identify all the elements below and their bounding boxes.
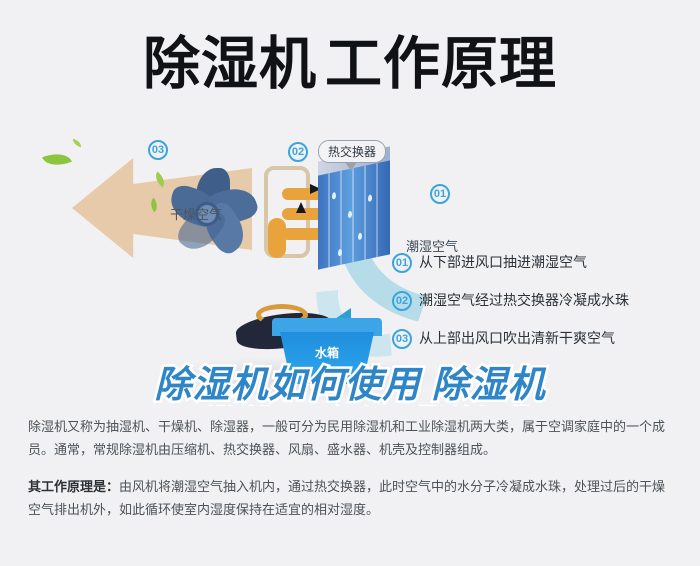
article-paragraph-2-rest: 由风机将潮湿空气抽入机内，通过热交换器，此时空气中的水分子冷凝成水珠，处理过后的… [28, 479, 665, 517]
title-part-1: 除湿机 [143, 32, 317, 96]
water-tank-label: 水箱 [272, 344, 382, 361]
label-heat-exchanger: 02 热交换器 [288, 140, 386, 163]
step-text: 从下部进风口抽进潮湿空气 [419, 252, 587, 272]
step-badge-01: 01 [430, 184, 450, 204]
page-title: 除湿机工作原理 [0, 18, 700, 110]
heat-exchanger-callout: 热交换器 [318, 140, 386, 163]
label-humid-air: 01 潮湿空气 [430, 184, 450, 204]
step-badge: 01 [392, 253, 412, 273]
article-body: 除湿机又称为抽湿机、干燥机、除湿器，一般可分为民用除湿机和工业除湿机两大类，属于… [28, 415, 676, 521]
article-paragraph-2-lead: 其工作原理是： [28, 479, 119, 494]
step-badge-02: 02 [288, 142, 308, 162]
dry-air-text: 干燥空气 [170, 204, 222, 223]
fin-line [364, 165, 366, 259]
step-text: 潮湿空气经过热交换器冷凝成水珠 [419, 290, 629, 310]
main-title-text: 除湿机工作原理 [143, 36, 557, 93]
list-item: 02 潮湿空气经过热交换器冷凝成水珠 [392, 290, 692, 311]
title-part-2: 工作原理 [325, 32, 557, 96]
step-badge: 03 [392, 329, 412, 349]
steps-list: 01 从下部进风口抽进潮湿空气 02 潮湿空气经过热交换器冷凝成水珠 03 从上… [392, 252, 692, 366]
step-text: 从上部出风口吹出清新干爽空气 [419, 328, 615, 348]
fin-line [352, 168, 354, 262]
working-principle-diagram: 水箱 03 干燥空气 01 潮湿空气 02 热交换器 01 从下部进风口抽进潮湿… [0, 118, 700, 406]
leaf-icon [42, 148, 72, 172]
leaf-icon [71, 139, 82, 148]
list-item: 01 从下部进风口抽进潮湿空气 [392, 252, 692, 273]
list-item: 03 从上部出风口吹出清新干爽空气 [392, 328, 692, 349]
step-badge-03: 03 [148, 140, 168, 160]
page-root: 除湿机工作原理 [0, 0, 700, 566]
fin-line [328, 173, 330, 267]
article-paragraph-1: 除湿机又称为抽湿机、干燥机、除湿器，一般可分为民用除湿机和工业除湿机两大类，属于… [28, 415, 676, 461]
flow-arrow-up-icon [296, 202, 306, 213]
label-dry-air: 03 干燥空气 [148, 140, 168, 160]
water-tank-illustration: 水箱 [272, 318, 382, 384]
fin-line [376, 163, 378, 257]
article-paragraph-2: 其工作原理是：由风机将潮湿空气抽入机内，通过热交换器，此时空气中的水分子冷凝成水… [28, 475, 676, 521]
step-badge: 02 [392, 291, 412, 311]
